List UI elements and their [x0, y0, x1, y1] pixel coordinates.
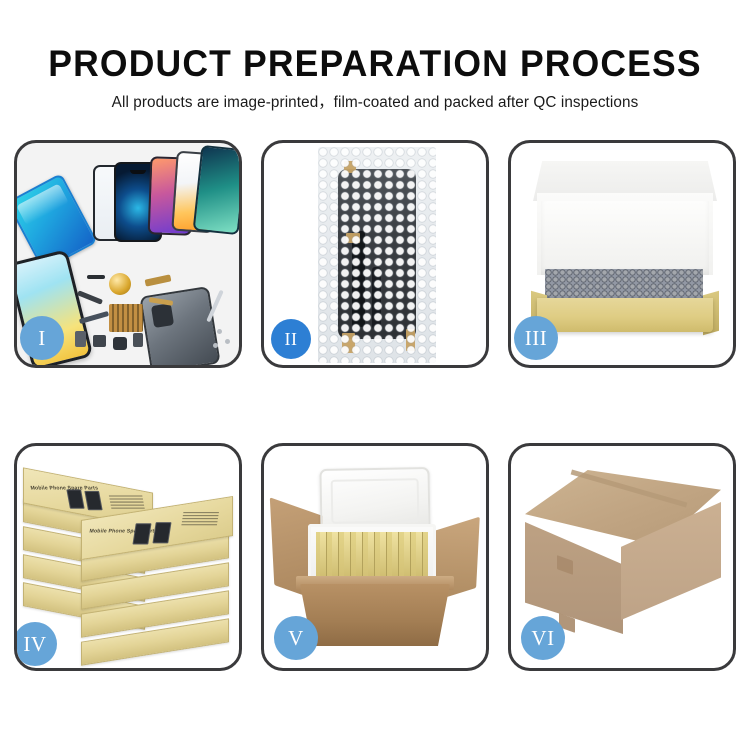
small-part-1	[75, 331, 86, 347]
header: PRODUCT PREPARATION PROCESS All products…	[0, 0, 750, 112]
small-part-4	[133, 333, 143, 347]
box-front-kraft	[537, 298, 713, 332]
process-step-grid: I II	[14, 140, 736, 685]
step-badge-4: IV	[14, 622, 57, 666]
process-step-1[interactable]: I	[14, 140, 242, 368]
step-numeral-4: IV	[23, 634, 46, 655]
step-badge-1: I	[20, 316, 64, 360]
infographic-page: PRODUCT PREPARATION PROCESS All products…	[0, 0, 750, 750]
step-numeral-5: V	[288, 628, 304, 649]
connector-grid-part	[109, 304, 143, 332]
box-art-screen-3	[132, 523, 151, 544]
process-step-4[interactable]: Mobile Phone Spare Parts	[14, 443, 242, 671]
screw-2	[225, 339, 230, 344]
step-badge-5: V	[274, 616, 318, 660]
flex-cable-1	[77, 290, 103, 304]
page-subtitle: All products are image-printed，film-coat…	[6, 84, 745, 112]
screw-1	[217, 329, 222, 334]
step-numeral-6: VI	[531, 628, 554, 649]
gold-coil-part	[109, 273, 131, 295]
step-numeral-3: III	[525, 328, 547, 349]
process-step-5[interactable]: V	[261, 443, 489, 671]
bubble-wrap-layer	[545, 269, 703, 301]
step-badge-2: II	[271, 319, 311, 359]
foam-sheet	[541, 201, 709, 275]
step-badge-3: III	[514, 316, 558, 360]
screw-3	[213, 343, 218, 348]
step-numeral-2: II	[285, 330, 298, 348]
page-title: PRODUCT PREPARATION PROCESS	[15, 0, 735, 84]
box-art-screen-4	[152, 522, 171, 543]
carton-body	[300, 584, 450, 646]
flex-cable-2	[79, 311, 109, 324]
flex-cable-3	[145, 274, 172, 286]
packed-kraft-boxes	[316, 532, 428, 580]
step-numeral-1: I	[38, 328, 46, 349]
bubble-texture	[318, 147, 436, 363]
phone-screen-teal	[193, 145, 239, 235]
small-part-3	[113, 337, 127, 350]
small-part-2	[93, 335, 106, 347]
step-badge-6: VI	[521, 616, 565, 660]
process-step-6[interactable]: VI	[508, 443, 736, 671]
process-step-2[interactable]: II	[261, 140, 489, 368]
bubble-wrap-bag	[318, 147, 436, 363]
box-text-lines-rear	[109, 495, 145, 510]
box-text-lines-front	[181, 512, 219, 527]
earpiece-part	[87, 275, 105, 279]
process-step-3[interactable]: III	[508, 140, 736, 368]
